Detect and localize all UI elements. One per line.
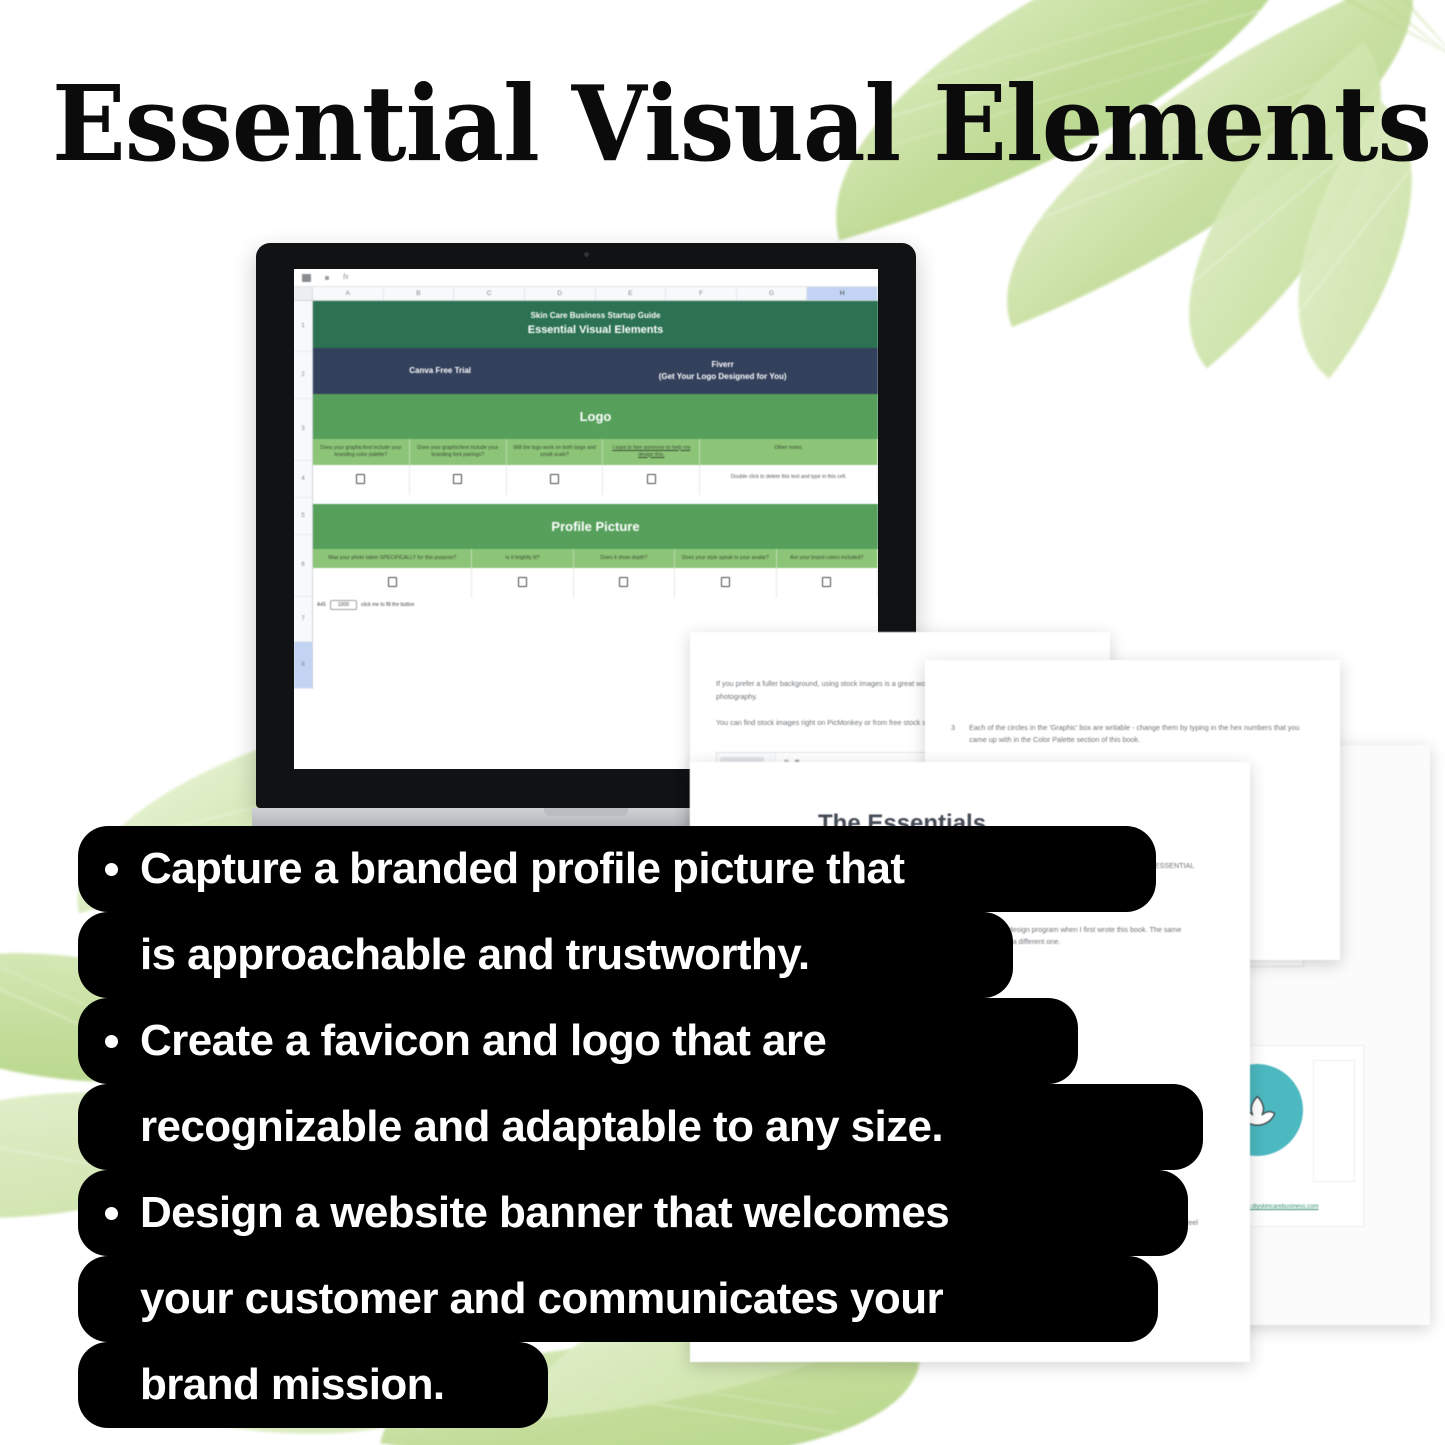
row-header-3[interactable]: 3 bbox=[294, 399, 312, 461]
page-title: Essential Visual Elements bbox=[52, 72, 1431, 176]
callout-text: is approachable and trustworthy. bbox=[78, 930, 809, 980]
logo-checkbox-cell-4[interactable] bbox=[603, 465, 700, 495]
menu-icon[interactable] bbox=[302, 274, 311, 282]
profile-question-1: Was your photo taken SPECIFICALLY for th… bbox=[313, 549, 472, 568]
spreadsheet-bottom-bar[interactable]: A45 1000 click me to fill the button bbox=[313, 598, 878, 612]
spreadsheet-grid[interactable]: Skin Care Business Startup Guide Essenti… bbox=[313, 301, 878, 689]
checkbox-icon[interactable] bbox=[822, 577, 831, 587]
callout-text: brand mission. bbox=[78, 1360, 445, 1410]
section-header-profile-picture: Profile Picture bbox=[313, 504, 878, 549]
callout-line-text: recognizable and adaptable to any size. bbox=[140, 1102, 943, 1152]
checkbox-icon[interactable] bbox=[518, 577, 527, 587]
logo-notes-cell[interactable]: Double click to delete this text and typ… bbox=[700, 465, 878, 495]
callout-line: your customer and communicates your bbox=[78, 1256, 1203, 1342]
select-all-corner[interactable] bbox=[294, 287, 313, 300]
callout-line: Capture a branded profile picture that bbox=[78, 826, 1203, 912]
instruction-item: 3 Each of the circles in the 'Graphic' b… bbox=[951, 722, 1310, 746]
column-header-g[interactable]: G bbox=[737, 287, 808, 300]
callout-line: brand mission. bbox=[78, 1342, 1203, 1428]
profile-checkbox-cell-3[interactable] bbox=[574, 568, 675, 598]
column-header-d[interactable]: D bbox=[525, 287, 596, 300]
row-header-column[interactable]: 1 2 3 4 5 6 7 8 bbox=[294, 301, 313, 689]
callout-line-text: is approachable and trustworthy. bbox=[140, 930, 809, 980]
checkbox-icon[interactable] bbox=[453, 474, 462, 484]
bullet-icon bbox=[105, 1207, 118, 1220]
callout-line: Create a favicon and logo that are bbox=[78, 998, 1203, 1084]
instruction-number: 3 bbox=[951, 722, 959, 746]
callout-line-text: brand mission. bbox=[140, 1360, 445, 1410]
checkbox-icon[interactable] bbox=[721, 577, 730, 587]
spreadsheet-toolbar[interactable]: fx bbox=[294, 269, 878, 287]
column-header-h[interactable]: H bbox=[807, 287, 878, 300]
callout-text: recognizable and adaptable to any size. bbox=[78, 1102, 943, 1152]
canva-free-trial-link[interactable]: Canva Free Trial bbox=[313, 366, 567, 375]
column-header-b[interactable]: B bbox=[384, 287, 455, 300]
logo-checkbox-cell-1[interactable] bbox=[313, 465, 410, 495]
callout-line-text: your customer and communicates your bbox=[140, 1274, 943, 1324]
checkbox-icon[interactable] bbox=[619, 577, 628, 587]
poster-canvas: Essential Visual Elements fx A B C D E bbox=[0, 0, 1445, 1445]
checkbox-icon[interactable] bbox=[388, 577, 397, 587]
section-header-logo: Logo bbox=[313, 394, 878, 439]
webcam-icon bbox=[584, 252, 589, 257]
checkbox-icon[interactable] bbox=[356, 474, 365, 484]
profile-checkbox-cell-2[interactable] bbox=[472, 568, 573, 598]
row-header-2[interactable]: 2 bbox=[294, 352, 312, 399]
logo-question-5: Other notes: bbox=[700, 439, 878, 465]
profile-question-2: Is it brightly lit? bbox=[472, 549, 573, 568]
logo-question-row: Does your graphic/text include your bran… bbox=[313, 439, 878, 465]
callout-line-text: Capture a branded profile picture that bbox=[140, 844, 904, 894]
profile-question-4: Does your style speak to your avatar? bbox=[675, 549, 776, 568]
key-points-callout: Capture a branded profile picture that i… bbox=[78, 826, 1203, 1428]
bullet-icon bbox=[105, 863, 118, 876]
logo-answer-row[interactable]: Double click to delete this text and typ… bbox=[313, 465, 878, 495]
callout-line: recognizable and adaptable to any size. bbox=[78, 1084, 1203, 1170]
profile-checkbox-cell-5[interactable] bbox=[777, 568, 878, 598]
profile-checkbox-cell-1[interactable] bbox=[313, 568, 472, 598]
cell-reference-label: A45 bbox=[317, 602, 326, 608]
sheet-subtitle: Skin Care Business Startup Guide bbox=[313, 310, 878, 322]
profile-question-3: Does it show depth? bbox=[574, 549, 675, 568]
row-spacer bbox=[313, 495, 878, 504]
callout-text: your customer and communicates your bbox=[78, 1274, 943, 1324]
fiverr-title: Fiverr bbox=[712, 360, 734, 369]
checkbox-icon[interactable] bbox=[550, 474, 559, 484]
bottom-bar-hint: click me to fill the button bbox=[361, 602, 414, 608]
row-header-5[interactable]: 5 bbox=[294, 498, 312, 535]
callout-text: Capture a branded profile picture that bbox=[78, 844, 904, 894]
profile-answer-row[interactable] bbox=[313, 568, 878, 598]
cell-value-input[interactable]: 1000 bbox=[330, 600, 357, 610]
column-header-e[interactable]: E bbox=[596, 287, 667, 300]
column-header-row[interactable]: A B C D E F G H bbox=[294, 287, 878, 301]
chevron-down-icon[interactable] bbox=[325, 276, 329, 280]
callout-text: Create a favicon and logo that are bbox=[78, 1016, 826, 1066]
laptop-notch bbox=[544, 808, 628, 816]
bullet-icon bbox=[105, 1035, 118, 1048]
row-header-1[interactable]: 1 bbox=[294, 301, 312, 352]
logo-question-4[interactable]: I want to hire someone to help me design… bbox=[603, 439, 700, 465]
column-header-a[interactable]: A bbox=[313, 287, 384, 300]
callout-line-text: Create a favicon and logo that are bbox=[140, 1016, 826, 1066]
callout-text: Design a website banner that welcomes bbox=[78, 1188, 949, 1238]
row-header-7[interactable]: 7 bbox=[294, 597, 312, 642]
row-header-4[interactable]: 4 bbox=[294, 461, 312, 498]
column-header-f[interactable]: F bbox=[666, 287, 737, 300]
logo-question-2: Does your graphic/text include your bran… bbox=[410, 439, 507, 465]
fiverr-subtitle: (Get Your Logo Designed for You) bbox=[659, 372, 787, 381]
logo-question-3: Will the logo work on both large and sma… bbox=[507, 439, 604, 465]
row-header-8[interactable]: 8 bbox=[294, 642, 312, 689]
logo-question-1: Does your graphic/text include your bran… bbox=[313, 439, 410, 465]
instruction-text: Each of the circles in the 'Graphic' box… bbox=[969, 722, 1310, 746]
profile-checkbox-cell-4[interactable] bbox=[675, 568, 776, 598]
tools-band: Canva Free Trial Fiverr (Get Your Logo D… bbox=[313, 348, 878, 394]
logo-checkbox-cell-2[interactable] bbox=[410, 465, 507, 495]
sheet-title-band: Skin Care Business Startup Guide Essenti… bbox=[313, 301, 878, 348]
profile-question-row: Was your photo taken SPECIFICALLY for th… bbox=[313, 549, 878, 568]
callout-line-text: Design a website banner that welcomes bbox=[140, 1188, 949, 1238]
profile-question-5: Are your brand colors included? bbox=[777, 549, 878, 568]
formula-icon: fx bbox=[343, 274, 348, 281]
row-header-6[interactable]: 6 bbox=[294, 535, 312, 597]
callout-line: Design a website banner that welcomes bbox=[78, 1170, 1203, 1256]
column-header-c[interactable]: C bbox=[454, 287, 525, 300]
callout-line: is approachable and trustworthy. bbox=[78, 912, 1203, 998]
logo-checkbox-cell-3[interactable] bbox=[507, 465, 604, 495]
checkbox-icon[interactable] bbox=[647, 474, 656, 484]
fiverr-link[interactable]: Fiverr (Get Your Logo Designed for You) bbox=[567, 359, 878, 382]
sheet-title: Essential Visual Elements bbox=[313, 322, 878, 339]
